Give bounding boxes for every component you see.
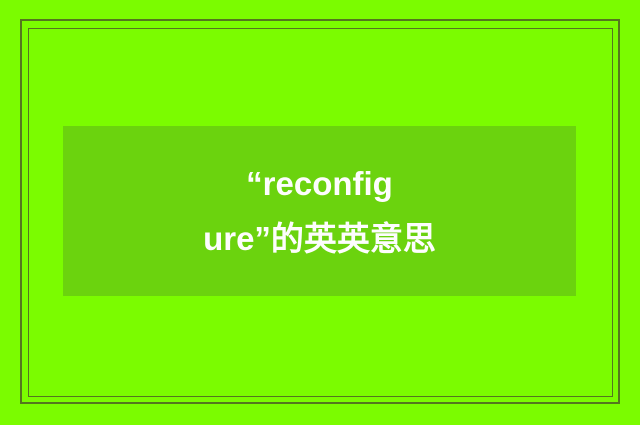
headline-text: “reconfig ure”的英英意思 [63, 126, 576, 296]
headline-plate: “reconfig ure”的英英意思 [63, 126, 576, 296]
graphic-card-canvas: “reconfig ure”的英英意思 [0, 0, 640, 425]
headline-line-1: “reconfig [246, 156, 393, 211]
headline-line-2: ure”的英英意思 [203, 211, 436, 266]
